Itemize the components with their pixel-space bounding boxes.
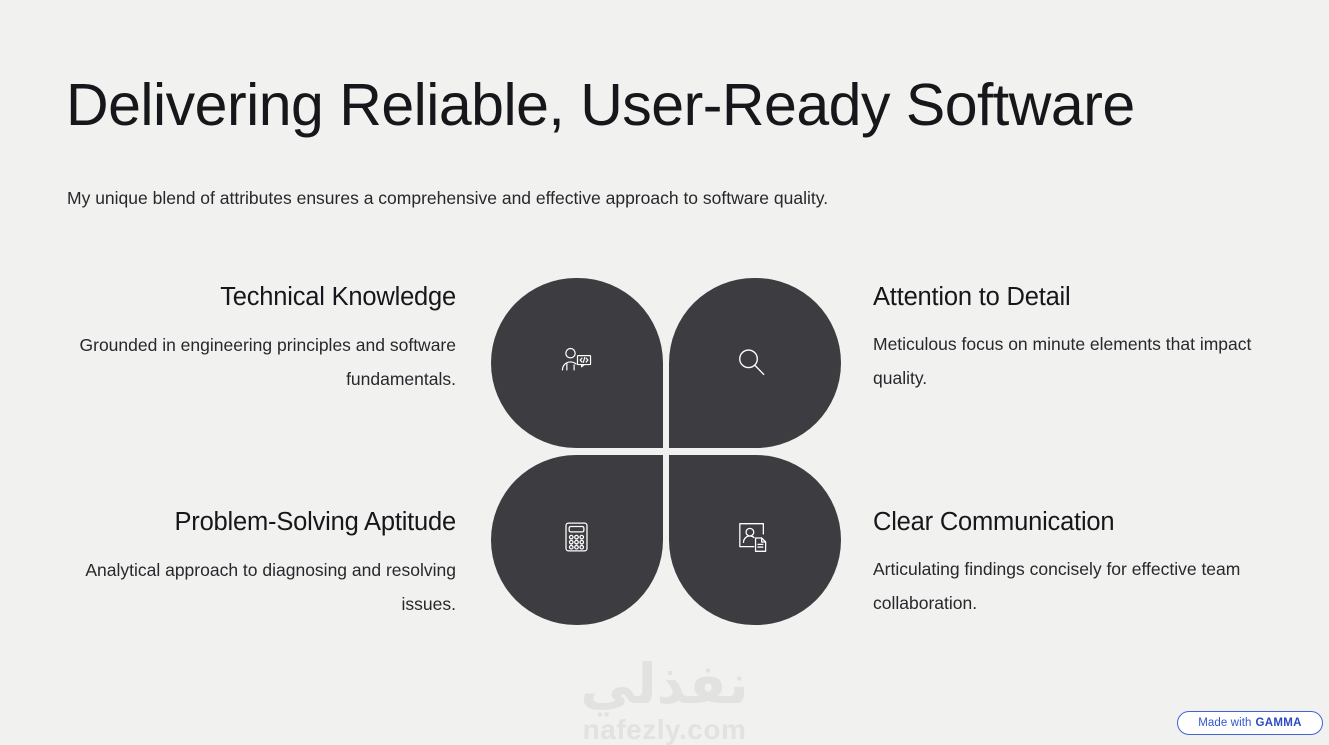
feature-description: Meticulous focus on minute elements that…: [873, 327, 1265, 395]
feature-title: Attention to Detail: [873, 281, 1265, 313]
petal-attention-to-detail[interactable]: [669, 278, 841, 448]
petal-clear-communication[interactable]: [669, 455, 841, 625]
feature-clear-communication: Clear Communication Articulating finding…: [873, 506, 1265, 620]
person-with-code-screen-icon: [560, 344, 594, 378]
feature-title: Clear Communication: [873, 506, 1265, 538]
feature-description: Grounded in engineering principles and s…: [64, 328, 456, 396]
feature-title: Technical Knowledge: [64, 281, 456, 313]
page-title: Delivering Reliable, User-Ready Software: [66, 70, 1135, 140]
feature-description: Analytical approach to diagnosing and re…: [64, 553, 456, 621]
slide-canvas: Delivering Reliable, User-Ready Software…: [0, 0, 1329, 744]
feature-attention-to-detail: Attention to Detail Meticulous focus on …: [873, 281, 1265, 395]
magnifying-glass-icon: [734, 345, 768, 379]
petal-technical-knowledge[interactable]: [491, 278, 663, 448]
person-card-with-document-icon: [736, 520, 770, 554]
watermark-domain-text: nafezly.com: [0, 715, 1329, 745]
badge-made-with-label: Made with: [1198, 717, 1251, 729]
made-with-gamma-badge[interactable]: Made with GAMMA: [1177, 711, 1323, 735]
watermark: نفذلي nafezly.com: [0, 655, 1329, 745]
feature-problem-solving-aptitude: Problem-Solving Aptitude Analytical appr…: [64, 506, 456, 621]
petal-problem-solving-aptitude[interactable]: [491, 455, 663, 625]
badge-brand-label: GAMMA: [1256, 717, 1302, 729]
feature-description: Articulating findings concisely for effe…: [873, 552, 1265, 620]
page-subtitle: My unique blend of attributes ensures a …: [67, 186, 828, 211]
calculator-icon: [560, 520, 594, 554]
feature-title: Problem-Solving Aptitude: [64, 506, 456, 538]
watermark-arabic-text: نفذلي: [0, 655, 1329, 713]
feature-technical-knowledge: Technical Knowledge Grounded in engineer…: [64, 281, 456, 396]
four-petal-diagram: [491, 278, 841, 625]
